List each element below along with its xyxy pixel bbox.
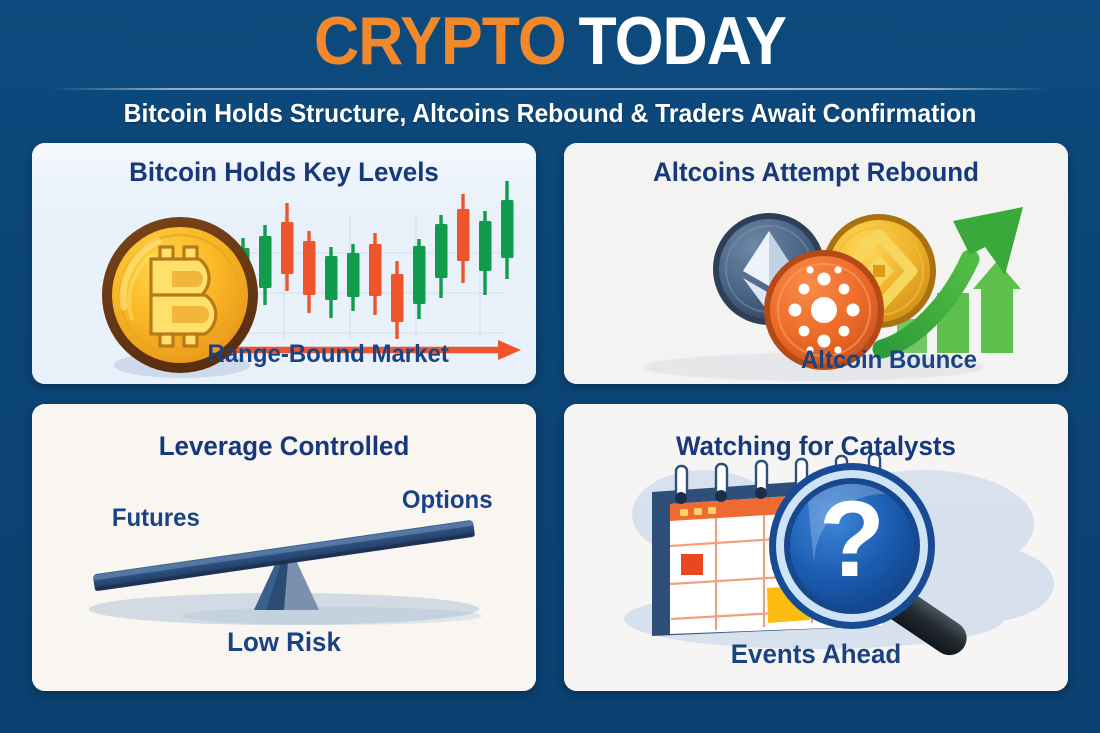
infographic-poster: CRYPTOTODAY Bitcoin Holds Structure, Alt… — [0, 0, 1100, 733]
seesaw-left-label: Futures — [112, 504, 200, 533]
cards-grid: Bitcoin Holds Key Levels Range-Bound Mar… — [32, 143, 1068, 691]
title-word-crypto: CRYPTO — [314, 3, 566, 79]
poster-subtitle: Bitcoin Holds Structure, Altcoins Reboun… — [28, 96, 1073, 130]
card-title-bitcoin: Bitcoin Holds Key Levels — [42, 156, 526, 188]
card-bitcoin-holds-key-levels[interactable]: Bitcoin Holds Key Levels Range-Bound Mar… — [32, 143, 536, 384]
magnifying-glass-icon: ? — [769, 463, 935, 629]
card-altcoins-attempt-rebound[interactable]: Altcoins Attempt Rebound Altcoin Bounce — [564, 143, 1068, 384]
card-title-altcoin: Altcoins Attempt Rebound — [574, 156, 1058, 188]
card-title-leverage: Leverage Controlled — [42, 430, 526, 462]
card-title-catalyst: Watching for Catalysts — [574, 430, 1058, 462]
question-mark-icon: ? — [819, 478, 885, 599]
poster-title: CRYPTOTODAY — [44, 4, 1056, 78]
calendar-marked-day — [681, 554, 703, 575]
card-caption-leverage: Low Risk — [42, 626, 526, 658]
card-caption-altcoin: Altcoin Bounce — [574, 345, 1058, 375]
card-caption-bitcoin: Range-Bound Market — [42, 339, 526, 369]
poster-header: CRYPTOTODAY Bitcoin Holds Structure, Alt… — [0, 0, 1100, 138]
seesaw-right-label: Options — [401, 486, 492, 515]
title-word-today: TODAY — [579, 3, 786, 79]
header-divider — [52, 88, 1048, 90]
card-watching-for-catalysts[interactable]: ? Watching for Catalysts Events Ahead — [564, 404, 1068, 691]
card-caption-catalyst: Events Ahead — [574, 638, 1058, 670]
card-leverage-controlled[interactable]: Leverage Controlled Futures Options Low … — [32, 404, 536, 691]
